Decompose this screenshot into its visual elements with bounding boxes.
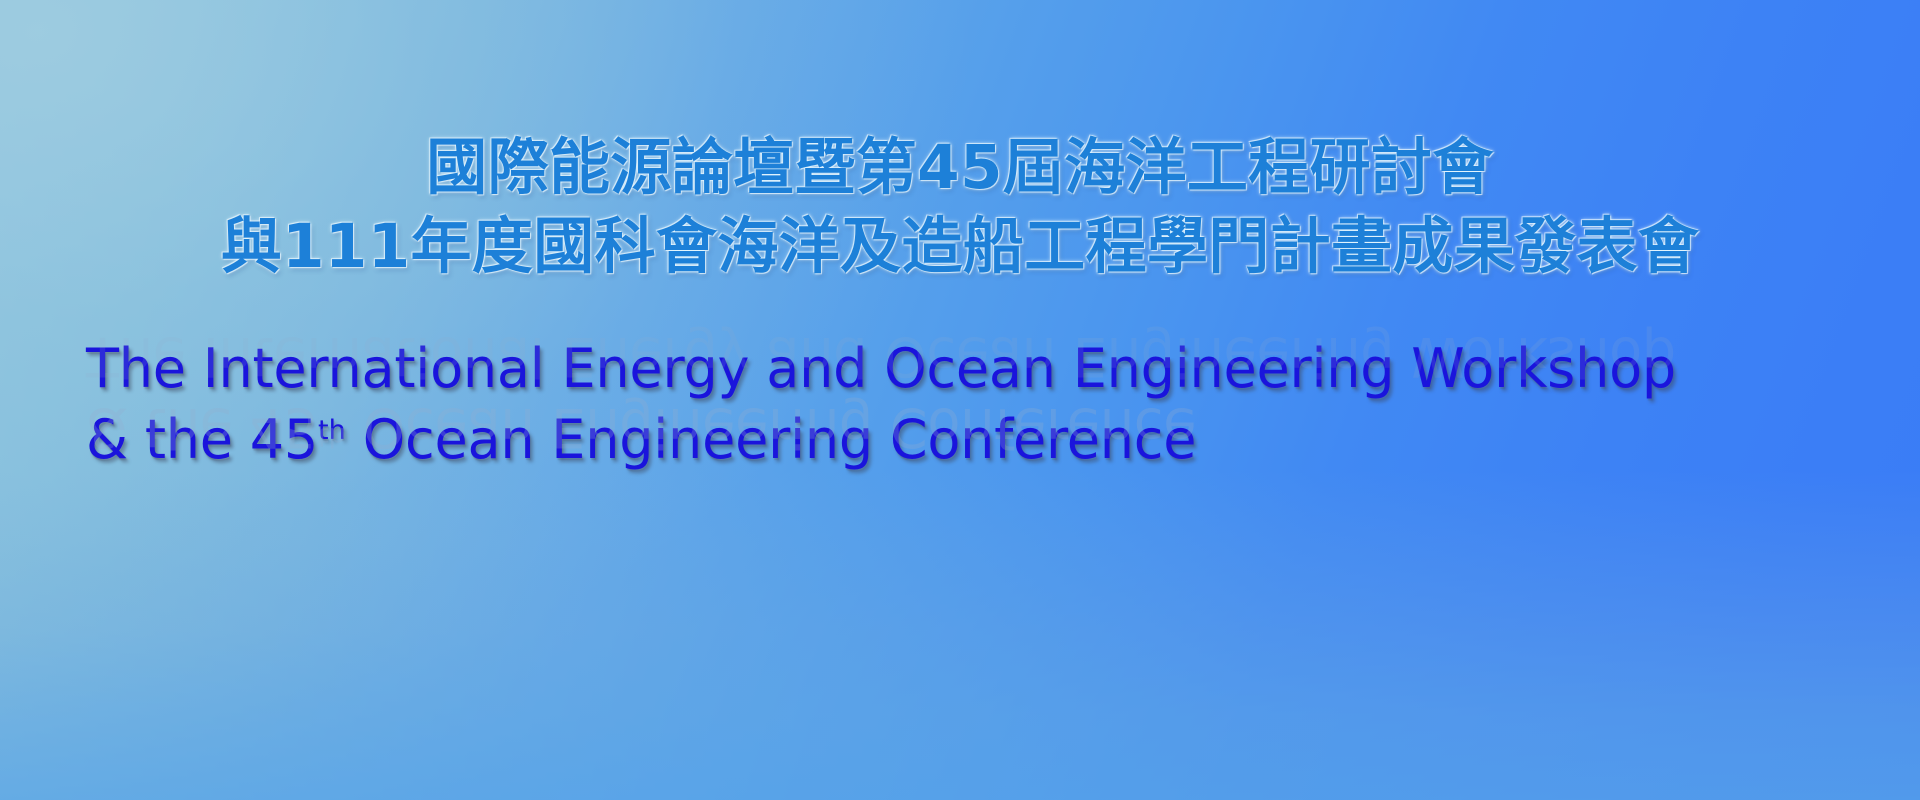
chinese-title-line-1: 國際能源論壇暨第45屆海洋工程研討會 [0,128,1920,207]
english-title-line-1-text: The International Energy and Ocean Engin… [86,337,1676,400]
reflection-fade-overlay [0,470,1920,800]
ordinal-suffix-th: th [318,415,346,446]
english-title-line-2-prefix: & the 45 [86,408,318,471]
chinese-title-line-2: 與111年度國科會海洋及造船工程學門計畫成果發表會 [0,207,1920,286]
english-title-line-1: The International Energy and Ocean Engin… [86,333,1586,404]
english-title-block: The International Energy and Ocean Engin… [86,333,1586,476]
conference-banner: 國際能源論壇暨第45屆海洋工程研討會 與111年度國科會海洋及造船工程學門計畫成… [0,0,1920,800]
english-title-line-2: & the 45th Ocean Engineering Conference [86,404,1586,475]
chinese-title-block: 國際能源論壇暨第45屆海洋工程研討會 與111年度國科會海洋及造船工程學門計畫成… [0,128,1920,287]
english-title-line-2-suffix: Ocean Engineering Conference [346,408,1197,471]
